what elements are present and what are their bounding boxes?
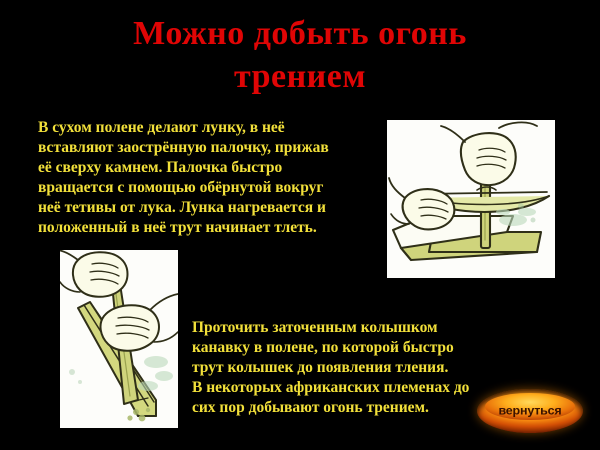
presentation-slide: Можно добыть огонь трением В сухом полен… [0, 0, 600, 450]
return-button-label: вернуться [498, 405, 561, 418]
return-button[interactable]: вернуться [477, 389, 583, 433]
smoke-wisp [496, 208, 536, 226]
slide-title: Можно добыть огонь трением [0, 12, 600, 98]
paragraph-fire-plough-description: Проточить заточенным колышком канавку в … [192, 318, 492, 418]
smoke-wisp [138, 356, 173, 391]
bow-drill-fire-illustration [387, 120, 555, 278]
fire-plough-illustration [60, 250, 178, 428]
bow-drill-drawing [387, 120, 555, 278]
paragraph-bow-drill-description: В сухом полене делают лунку, в неё встав… [38, 118, 378, 238]
fire-plough-drawing [60, 250, 178, 428]
